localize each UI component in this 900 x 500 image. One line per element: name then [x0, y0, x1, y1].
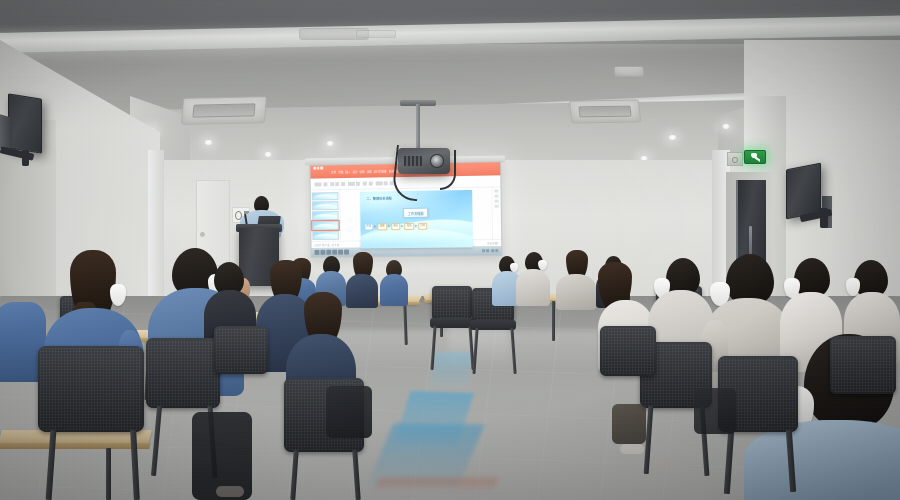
slide-thumbnail[interactable] [312, 201, 339, 210]
ppt-side-panel[interactable] [491, 187, 501, 239]
attendee-torso [380, 274, 408, 306]
chair[interactable] [146, 338, 220, 408]
flow-node: 申请 [364, 223, 374, 230]
ceiling-fixture-plate [356, 30, 396, 38]
flow-node: 受理 [377, 223, 387, 230]
attendee-torso [744, 420, 900, 500]
slide-heading: 二、管理体系流程 [367, 196, 392, 200]
face-mask [538, 260, 547, 270]
table-leg [552, 301, 555, 341]
table-leg [106, 448, 111, 500]
flow-arrow-icon [401, 225, 403, 227]
bag [612, 404, 646, 444]
flow-arrow-icon [415, 225, 417, 227]
input-language: 中文(中国) [487, 241, 498, 245]
downlight-icon [264, 152, 272, 157]
slide-thumbnail-selected[interactable] [312, 221, 339, 230]
ribbon-tab[interactable]: 开始 [338, 170, 343, 174]
chair[interactable] [38, 346, 144, 432]
door-knob-icon[interactable] [200, 232, 205, 237]
projector-mount-pole [416, 104, 420, 152]
ribbon-tab[interactable]: 文件 [331, 170, 336, 174]
slide-thumbnail-panel[interactable] [311, 190, 341, 241]
start-button-icon[interactable] [315, 250, 319, 255]
flow-node: 归档 [418, 223, 428, 230]
ac-cassette-unit [569, 99, 641, 123]
speaker-bracket-post [820, 208, 828, 228]
bag [694, 388, 736, 434]
shoe [216, 486, 244, 497]
shoe [620, 444, 644, 454]
emergency-light-box [727, 152, 743, 166]
flow-arrow-icon [374, 226, 376, 228]
ribbon-tab[interactable]: 切换 [359, 169, 364, 173]
quick-access-toolbar[interactable] [313, 167, 322, 170]
table-edge [0, 443, 151, 449]
flow-node: 批准 [404, 223, 414, 230]
ceiling-vent [614, 66, 645, 77]
taskbar-app-icon[interactable] [326, 250, 330, 255]
slide-thumbnail[interactable] [312, 231, 339, 240]
speaker-bracket-post [22, 150, 29, 166]
ribbon-tab[interactable]: 插入 [345, 169, 350, 173]
downlight-icon [722, 124, 730, 129]
slide-thumbnail[interactable] [312, 192, 339, 201]
chair[interactable] [830, 336, 896, 394]
slide-counter: 幻灯片 第 4 张，共 5 张 [314, 243, 339, 247]
ribbon-tab[interactable]: 动画 [367, 169, 372, 173]
chair[interactable] [600, 326, 656, 376]
ribbon-tab[interactable]: 幻灯片放映 [374, 169, 387, 173]
projector-vent [404, 156, 422, 166]
attendee [516, 252, 550, 306]
meeting-room-photo: 文件 开始 插入 设计 切换 动画 幻灯片放映 审阅 视图 [0, 0, 900, 500]
shoe [652, 460, 674, 469]
taskbar-app-icon[interactable] [338, 250, 342, 255]
exit-sign [744, 150, 766, 164]
ribbon-tab[interactable]: 设计 [352, 169, 357, 173]
flow-node: 审核 [391, 223, 401, 230]
attendee [556, 250, 596, 308]
slide-flow-diagram: 申请 受理 审核 批准 归档 [364, 222, 468, 230]
flow-arrow-icon [388, 226, 390, 228]
table [0, 430, 152, 444]
slide-thumbnail[interactable] [312, 211, 339, 220]
taskbar-app-icon[interactable] [332, 250, 336, 255]
taskbar-app-icon[interactable] [320, 250, 324, 255]
system-tray[interactable] [482, 249, 499, 252]
bag [326, 386, 372, 438]
floor-reflection-ribbon [373, 478, 498, 492]
attendee [380, 260, 408, 306]
downlight-icon [204, 140, 213, 145]
wall-speaker-left [8, 93, 42, 153]
chair[interactable] [432, 286, 472, 320]
slide-title-box: 工作流程图 [403, 208, 429, 219]
ac-cassette-unit [181, 96, 267, 125]
face-mask [110, 284, 126, 306]
attendee-torso [556, 274, 596, 310]
chair[interactable] [214, 326, 268, 374]
chair-seat [430, 318, 474, 328]
downlight-icon [326, 141, 334, 146]
projector-lens-icon [430, 154, 444, 168]
attendee-torso [516, 269, 550, 306]
downlight-icon [668, 135, 677, 140]
